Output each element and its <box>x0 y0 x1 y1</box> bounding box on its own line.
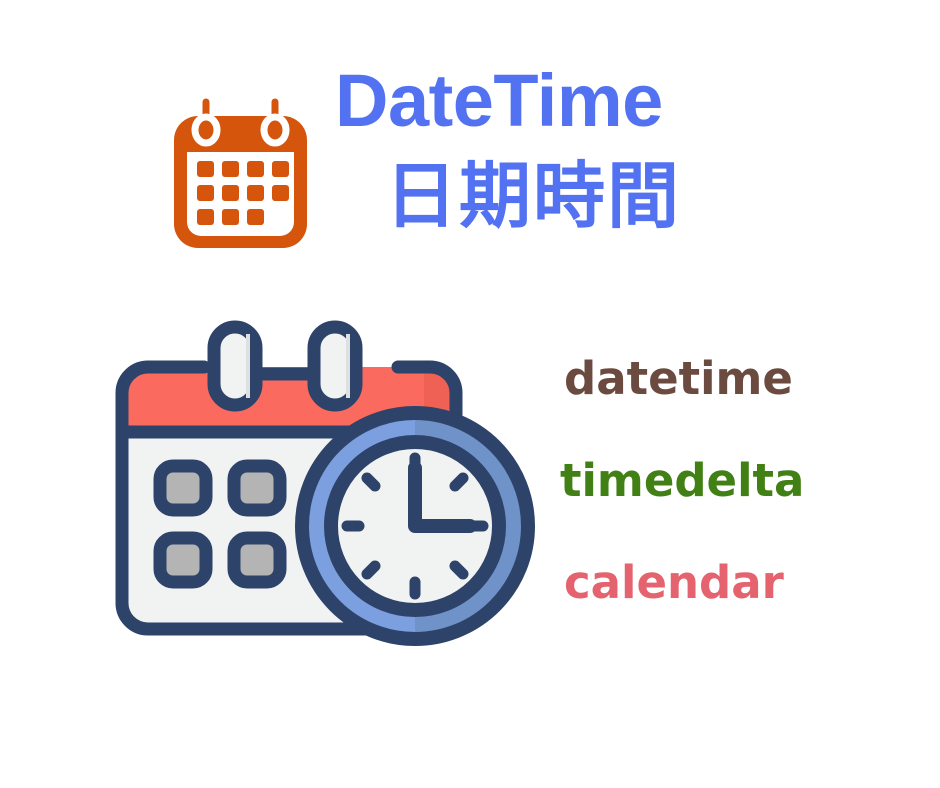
page-title-en: DateTime <box>335 64 663 138</box>
page-title-zh: 日期時間 <box>385 160 681 232</box>
keyword-list: datetime timedelta calendar <box>558 348 888 628</box>
header-text-block: DateTime 日期時間 <box>335 62 815 262</box>
poster-canvas: DateTime 日期時間 <box>0 0 940 788</box>
calendar-icon <box>168 94 313 254</box>
header: DateTime 日期時間 <box>0 62 940 267</box>
keyword-datetime: datetime <box>564 356 793 401</box>
keyword-calendar: calendar <box>564 560 784 605</box>
keyword-timedelta: timedelta <box>560 458 804 503</box>
calendar-clock-illustration <box>108 318 558 668</box>
clock-graphic <box>302 413 528 639</box>
